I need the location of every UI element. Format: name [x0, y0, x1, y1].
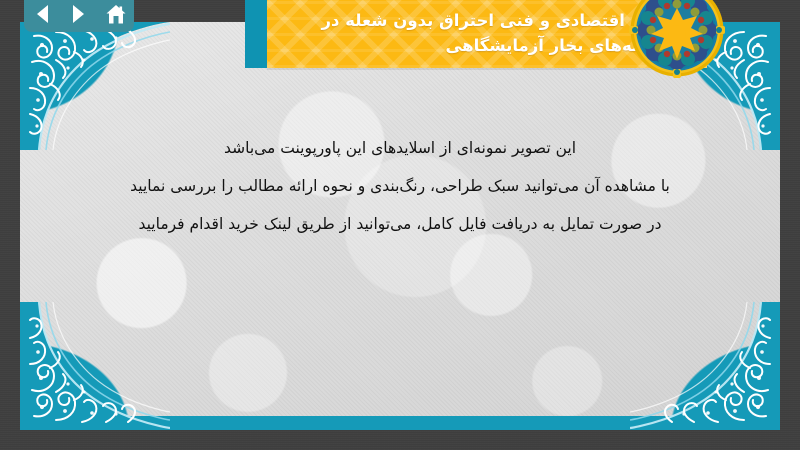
slide-body-text: این تصویر نمونه‌ای از اسلایدهای این پاور…	[50, 130, 750, 244]
navigation-toolbar	[24, 0, 134, 32]
next-slide-button[interactable]	[66, 1, 92, 27]
triangle-left-icon	[33, 4, 51, 24]
previous-slide-button[interactable]	[29, 1, 55, 27]
persian-medallion-icon	[629, 0, 725, 78]
slide-bottom-strip	[20, 416, 780, 430]
home-icon	[105, 4, 127, 25]
title-line-1: تحلیل اقتصادی و فنی احتراق بدون شعله در	[322, 8, 678, 33]
body-line-3: در صورت تمایل به دریافت فایل کامل، می‌تو…	[50, 206, 750, 244]
presentation-viewer: این تصویر نمونه‌ای از اسلایدهای این پاور…	[0, 0, 800, 450]
body-line-2: با مشاهده آن می‌توانید سبک طراحی، رنگ‌بن…	[50, 168, 750, 206]
home-button[interactable]	[103, 1, 129, 27]
slide-title-banner: تحلیل اقتصادی و فنی احتراق بدون شعله در …	[225, 0, 725, 68]
body-line-1: این تصویر نمونه‌ای از اسلایدهای این پاور…	[50, 130, 750, 168]
triangle-right-icon	[70, 4, 88, 24]
slide-canvas: این تصویر نمونه‌ای از اسلایدهای این پاور…	[20, 22, 780, 430]
banner-left-tab	[245, 0, 269, 68]
